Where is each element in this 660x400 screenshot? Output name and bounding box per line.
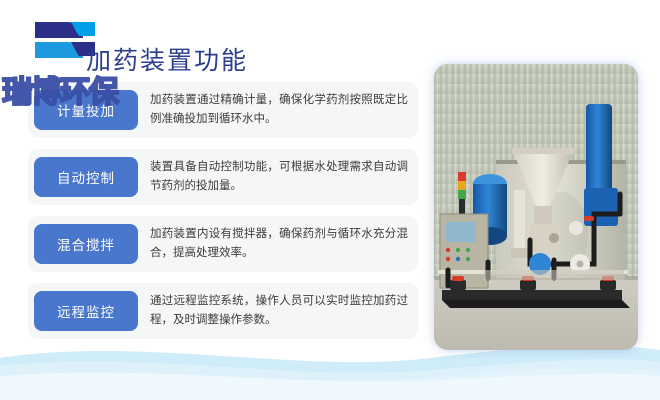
list-item: 自动控制 装置具备自动控制功能，可根据水处理需求自动调节药剂的投加量。 <box>28 149 418 205</box>
page-title: 加药装置功能 <box>86 46 248 76</box>
feature-description: 加药装置通过精确计量，确保化学药剂按照既定比例准确投加到循环水中。 <box>150 91 408 129</box>
feature-description: 通过远程监控系统，操作人员可以实时监控加药过程，及时调整操作参数。 <box>150 292 408 330</box>
feature-list: 计量投加 加药装置通过精确计量，确保化学药剂按照既定比例准确投加到循环水中。 自… <box>28 82 418 350</box>
feature-label-badge[interactable]: 计量投加 <box>34 90 138 130</box>
feature-label-badge[interactable]: 混合搅拌 <box>34 224 138 264</box>
feature-description: 装置具备自动控制功能，可根据水处理需求自动调节药剂的投加量。 <box>150 158 408 196</box>
feature-label-badge[interactable]: 自动控制 <box>34 157 138 197</box>
list-item: 远程监控 通过远程监控系统，操作人员可以实时监控加药过程，及时调整操作参数。 <box>28 283 418 339</box>
list-item: 混合搅拌 加药装置内设有搅拌器，确保药剂与循环水充分混合，提高处理效率。 <box>28 216 418 272</box>
page-header: 加药装置功能 <box>28 18 408 70</box>
list-item: 计量投加 加药装置通过精确计量，确保化学药剂按照既定比例准确投加到循环水中。 <box>28 82 418 138</box>
feature-description: 加药装置内设有搅拌器，确保药剂与循环水充分混合，提高处理效率。 <box>150 225 408 263</box>
equipment-photo <box>434 64 638 350</box>
feature-label-badge[interactable]: 远程监控 <box>34 291 138 331</box>
